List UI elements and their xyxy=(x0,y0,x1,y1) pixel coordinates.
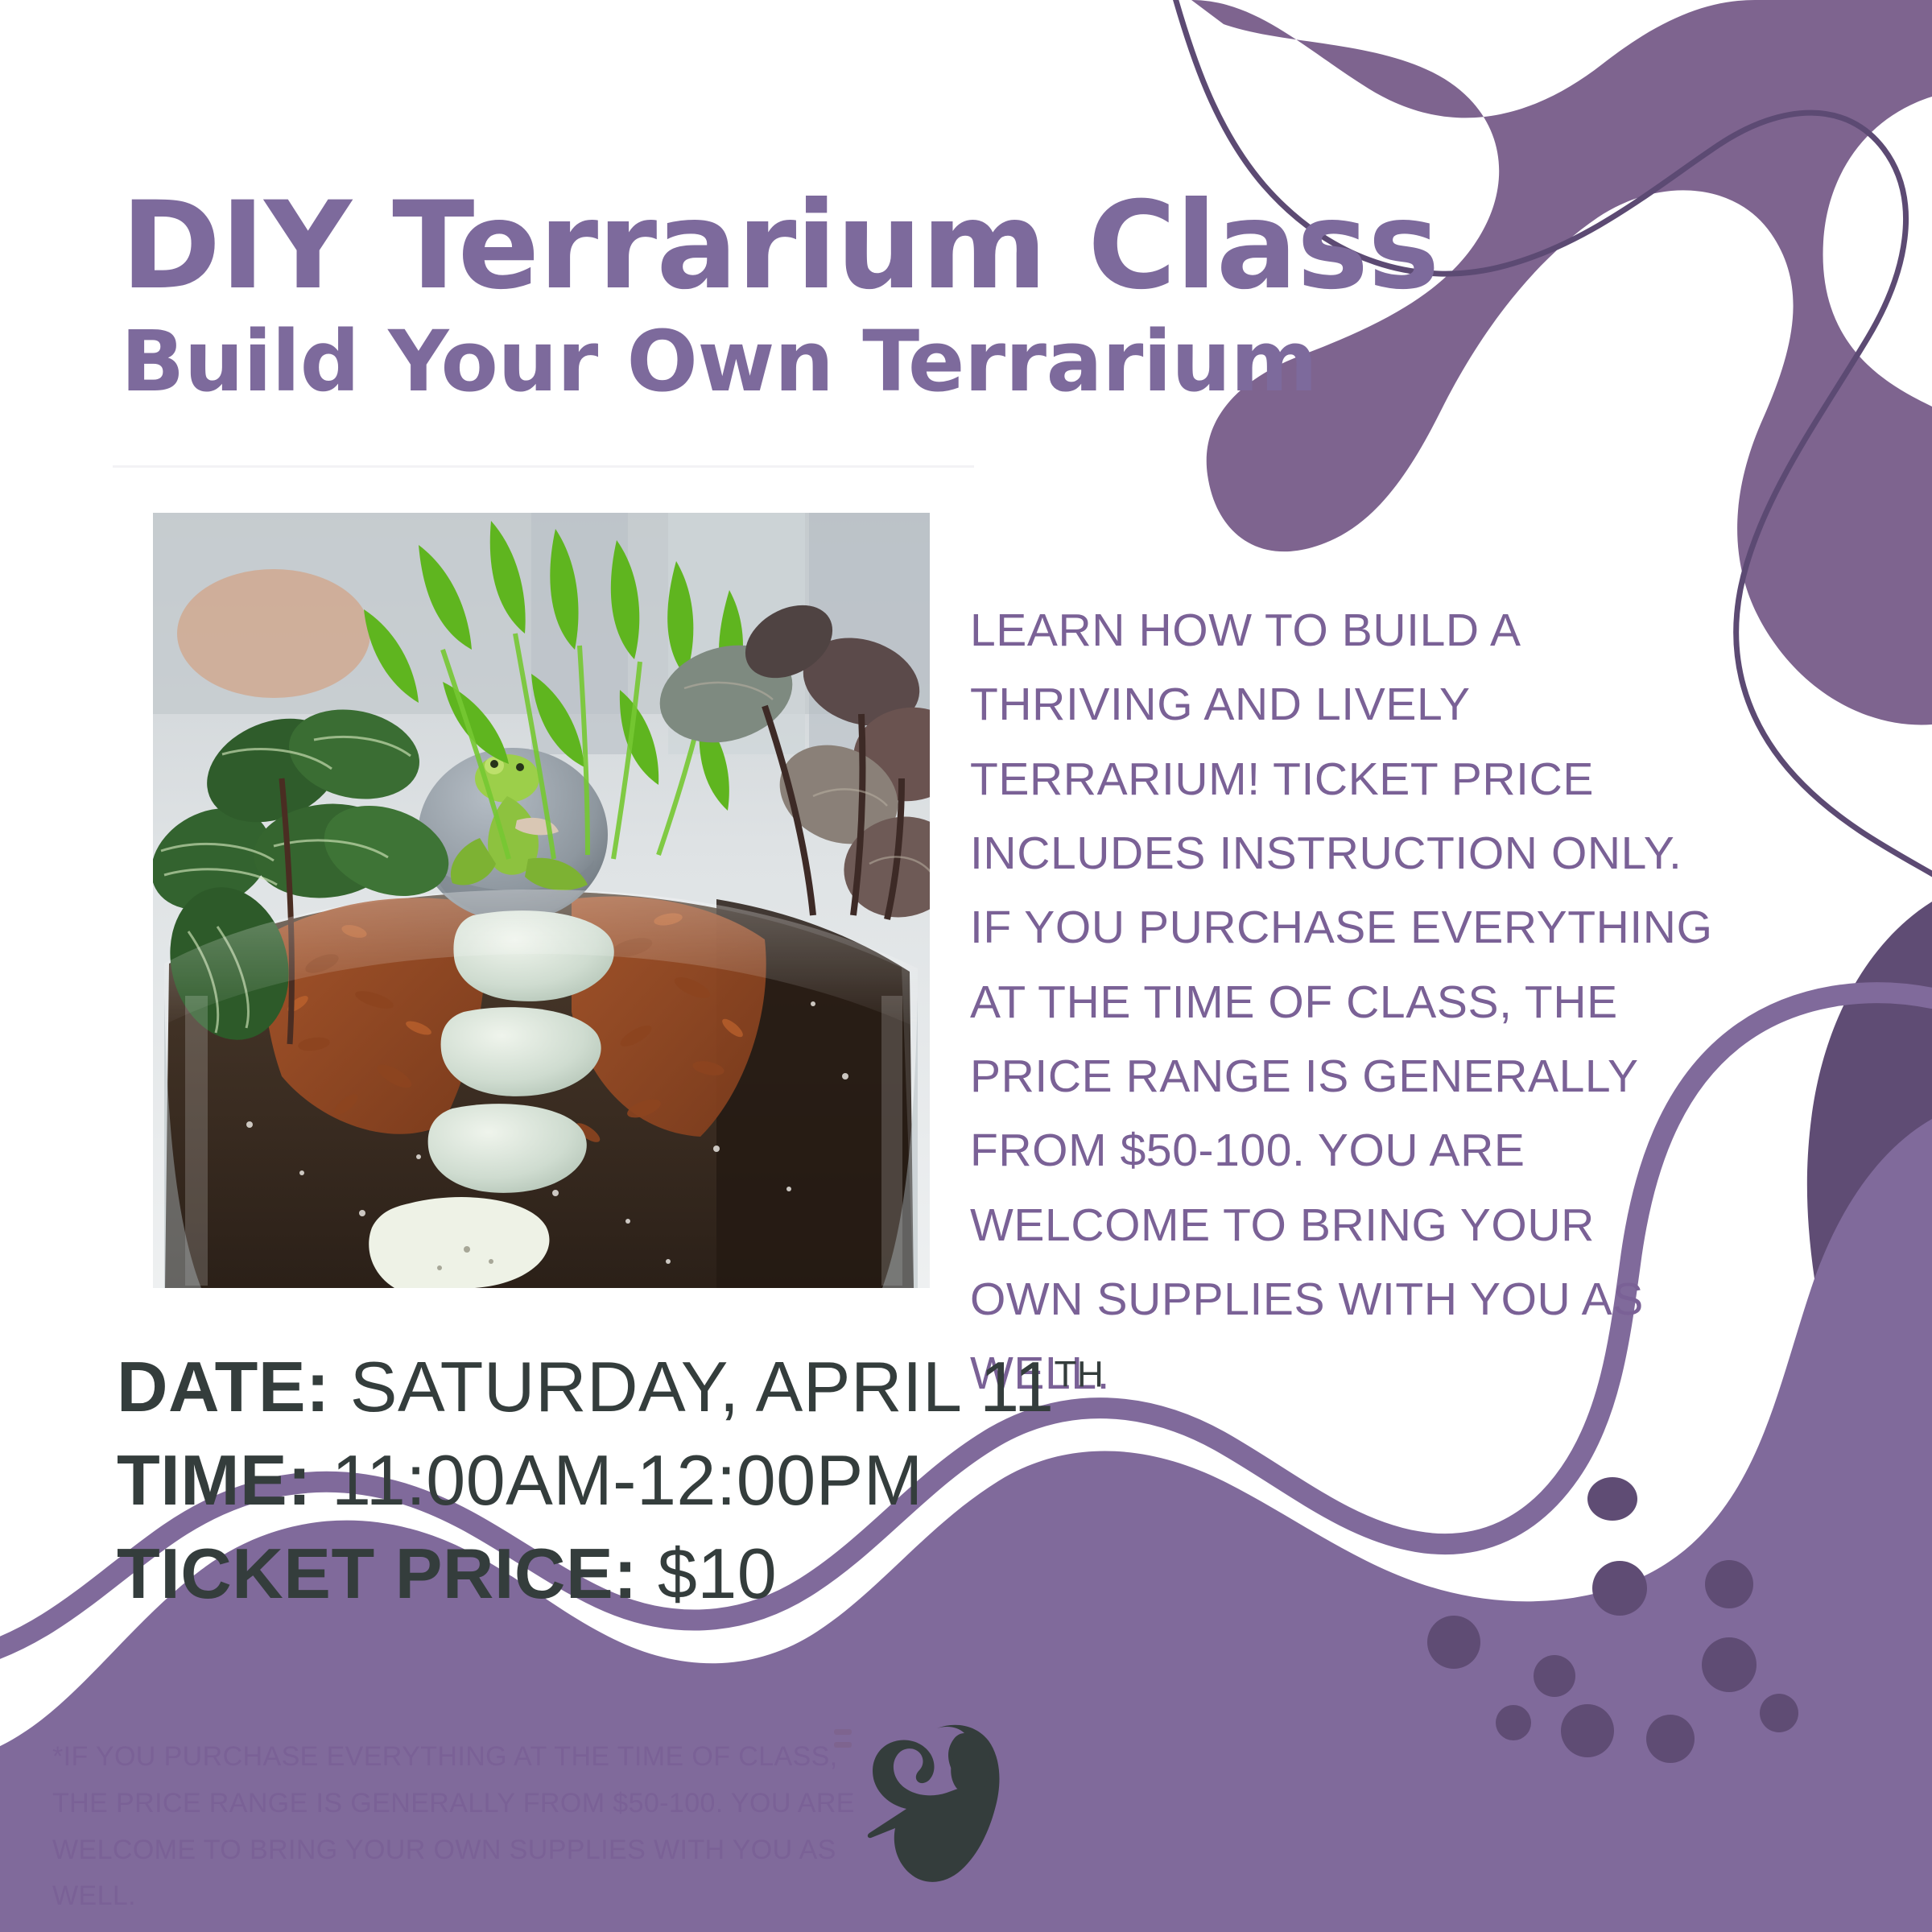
time-label: TIME: xyxy=(117,1440,312,1520)
leaf-logo xyxy=(860,1719,1021,1892)
page-title: DIY Terrarium Class xyxy=(121,185,1377,308)
body-paragraph: Learn how to build a thriving and lively… xyxy=(970,593,1719,1411)
date-label: DATE: xyxy=(117,1347,330,1426)
poster-header: DIY Terrarium Class Build Your Own Terra… xyxy=(121,185,1377,406)
date-ordinal: TH xyxy=(1054,1354,1104,1395)
header-divider xyxy=(113,465,974,468)
price-value: $10 xyxy=(658,1534,777,1613)
detail-row-price: TICKET PRICE: $10 xyxy=(117,1527,1104,1620)
decorative-dot-cluster xyxy=(1427,1477,1798,1763)
terrarium-photo-illustration xyxy=(153,513,930,1288)
price-label: TICKET PRICE: xyxy=(117,1534,638,1613)
date-value: SATURDAY, APRIL 11 xyxy=(350,1347,1055,1426)
page-subtitle: Build Your Own Terrarium xyxy=(121,318,1377,406)
detail-row-time: TIME: 11:00AM-12:00PM xyxy=(117,1434,1104,1527)
time-value: 11:00AM-12:00PM xyxy=(332,1440,923,1520)
event-details: DATE: SATURDAY, APRIL 11TH TIME: 11:00AM… xyxy=(117,1340,1104,1620)
leaf-icon xyxy=(860,1719,1021,1892)
poster-canvas: DIY Terrarium Class Build Your Own Terra… xyxy=(0,0,1932,1932)
terrarium-photo xyxy=(153,513,930,1288)
footnote-text: *If you purchase everything at the time … xyxy=(52,1734,865,1920)
detail-row-date: DATE: SATURDAY, APRIL 11TH xyxy=(117,1340,1104,1434)
